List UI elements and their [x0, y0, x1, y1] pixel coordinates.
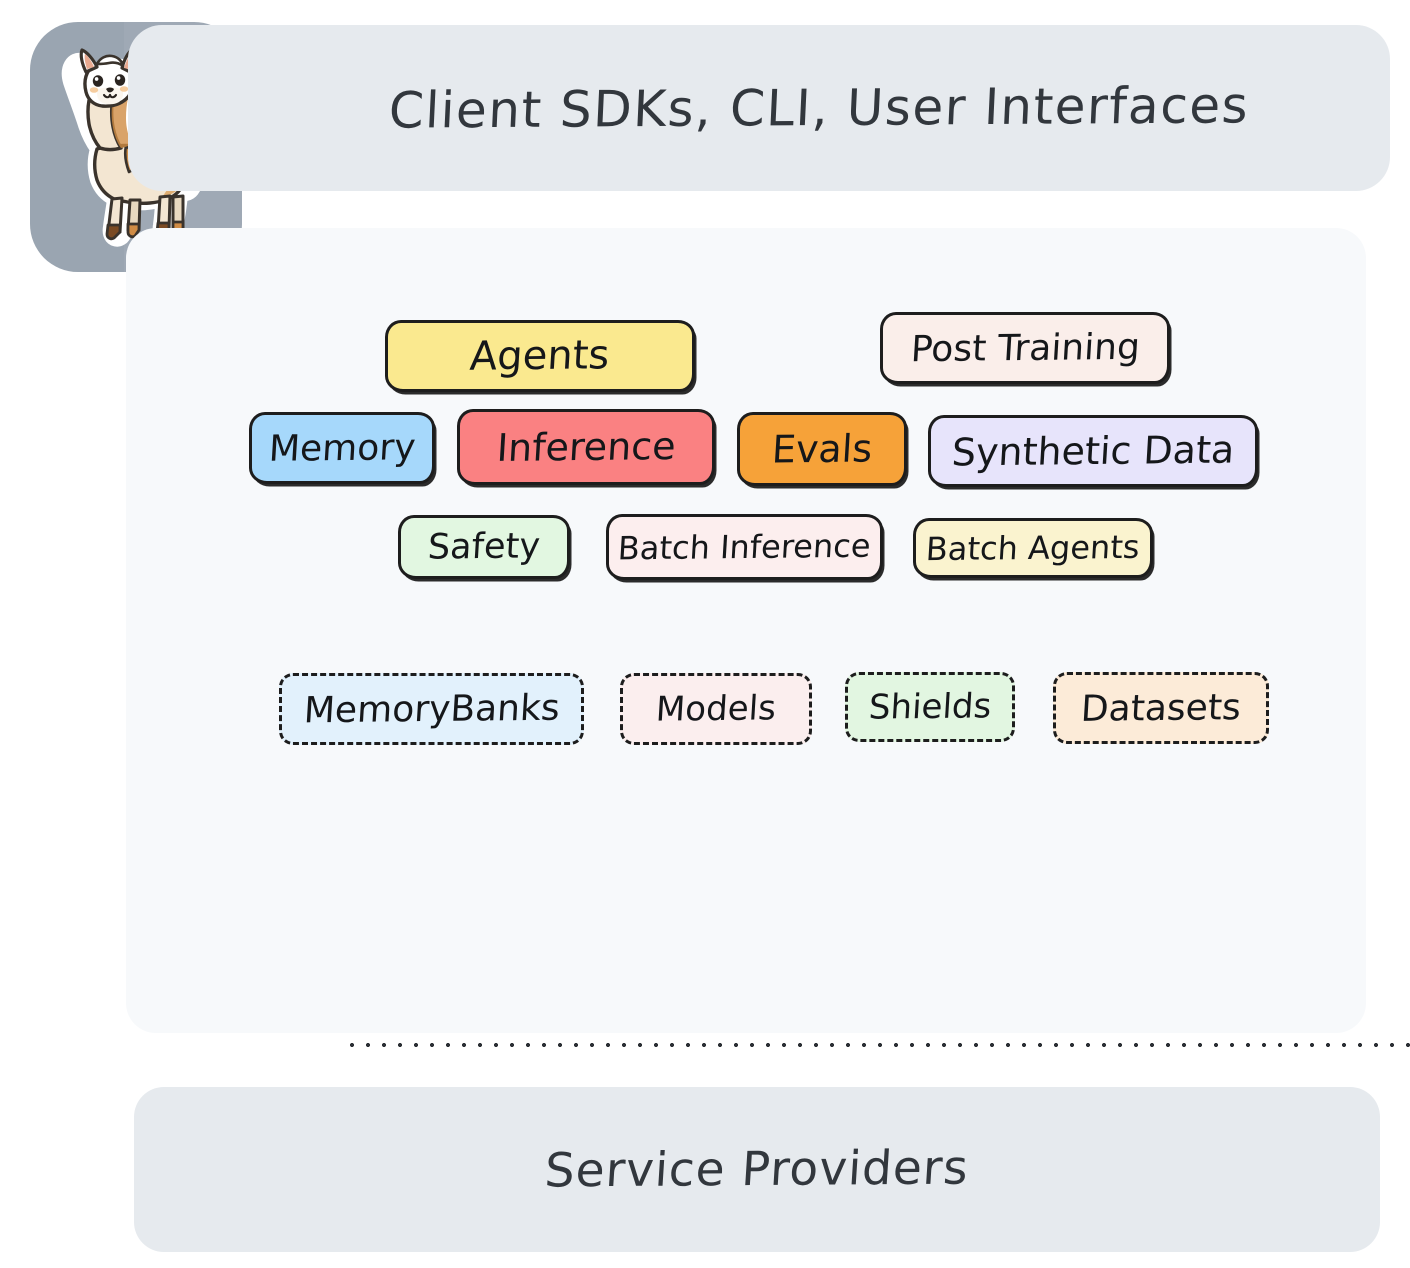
api-box-label: Safety	[427, 526, 541, 567]
api-box-label: Batch Agents	[925, 528, 1141, 568]
api-box-safety[interactable]: Safety	[398, 515, 570, 579]
api-box-synthetic-data[interactable]: Synthetic Data	[928, 415, 1258, 487]
llama-stack-panel: AgentsPost TrainingMemoryInferenceEvalsS…	[126, 228, 1366, 1033]
footer-title: Service Providers	[543, 1141, 970, 1199]
api-box-label: MemoryBanks	[302, 687, 560, 731]
api-box-label: Agents	[469, 332, 611, 379]
api-box-label: Datasets	[1080, 687, 1242, 730]
api-box-batch-agents[interactable]: Batch Agents	[913, 518, 1153, 578]
api-box-inference[interactable]: Inference	[457, 409, 715, 485]
api-box-label: Batch Inference	[617, 527, 872, 568]
api-box-batch-inference[interactable]: Batch Inference	[606, 514, 883, 580]
api-box-label: Shields	[868, 686, 993, 727]
architecture-diagram: Client SDKs, CLI, User Interfaces Agents…	[0, 0, 1410, 1268]
resource-box-memorybanks[interactable]: MemoryBanks	[279, 673, 584, 745]
api-box-label: Inference	[495, 424, 676, 470]
api-box-memory[interactable]: Memory	[249, 412, 435, 484]
section-divider	[344, 1042, 1410, 1048]
api-box-label: Synthetic Data	[950, 428, 1235, 475]
api-box-label: Post Training	[909, 326, 1140, 369]
api-box-label: Models	[655, 688, 777, 729]
resource-box-datasets[interactable]: Datasets	[1053, 672, 1269, 744]
header-bar: Client SDKs, CLI, User Interfaces	[128, 25, 1390, 191]
api-box-evals[interactable]: Evals	[737, 412, 907, 486]
api-box-post-training[interactable]: Post Training	[880, 312, 1170, 384]
api-box-label: Memory	[268, 427, 417, 470]
page-title: Client SDKs, CLI, User Interfaces	[387, 76, 1250, 139]
footer-bar: Service Providers	[134, 1087, 1380, 1252]
resource-box-models[interactable]: Models	[620, 673, 812, 745]
api-box-label: Evals	[771, 426, 874, 471]
api-box-agents[interactable]: Agents	[385, 320, 695, 392]
resource-box-shields[interactable]: Shields	[845, 672, 1015, 742]
